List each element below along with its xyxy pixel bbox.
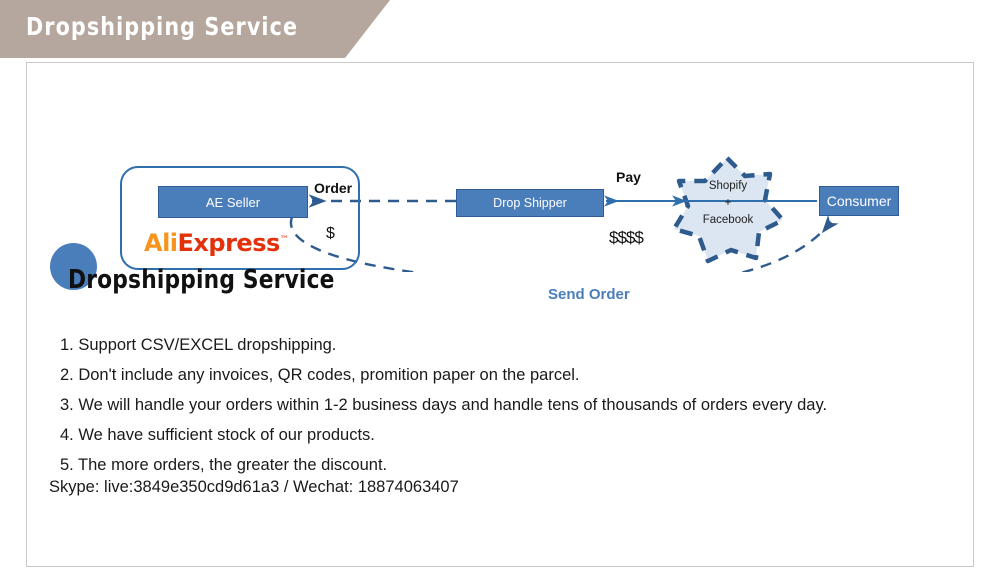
star-label-line-2: + bbox=[686, 195, 770, 212]
aliexpress-logo-express: Express bbox=[178, 229, 280, 257]
label-pay: Pay bbox=[616, 169, 641, 185]
list-item: 4. We have sufficient stock of our produ… bbox=[60, 420, 965, 450]
node-consumer: Consumer bbox=[819, 186, 899, 216]
flow-diagram: AE Seller Drop Shipper Consumer AliExpre… bbox=[26, 62, 974, 272]
section-heading: Dropshipping Service bbox=[68, 265, 335, 295]
list-item: 2. Don't include any invoices, QR codes,… bbox=[60, 360, 965, 390]
banner-title: Dropshipping Service bbox=[26, 12, 298, 41]
star-label-line-3: Facebook bbox=[686, 212, 770, 229]
feature-list: 1. Support CSV/EXCEL dropshipping. 2. Do… bbox=[60, 330, 965, 480]
label-dollar: $ bbox=[326, 225, 335, 243]
node-drop-shipper: Drop Shipper bbox=[456, 189, 604, 217]
list-item: 5. The more orders, the greater the disc… bbox=[60, 450, 965, 480]
label-send-order: Send Order bbox=[548, 286, 630, 303]
label-order: Order bbox=[314, 180, 352, 196]
contact-info: Skype: live:3849e350cd9d61a3 / Wechat: 1… bbox=[49, 478, 459, 497]
list-item: 1. Support CSV/EXCEL dropshipping. bbox=[60, 330, 965, 360]
label-dollars: $$$$ bbox=[609, 228, 643, 248]
aliexpress-logo-trademark: ™ bbox=[280, 235, 289, 245]
aliexpress-logo-ali: Ali bbox=[144, 229, 178, 257]
aliexpress-logo: AliExpress™ bbox=[144, 229, 288, 257]
shopify-facebook-star-label: Shopify + Facebook bbox=[686, 178, 770, 229]
header-banner: Dropshipping Service bbox=[0, 0, 400, 58]
list-item: 3. We will handle your orders within 1-2… bbox=[60, 390, 965, 420]
node-ae-seller: AE Seller bbox=[158, 186, 308, 218]
star-label-line-1: Shopify bbox=[686, 178, 770, 195]
